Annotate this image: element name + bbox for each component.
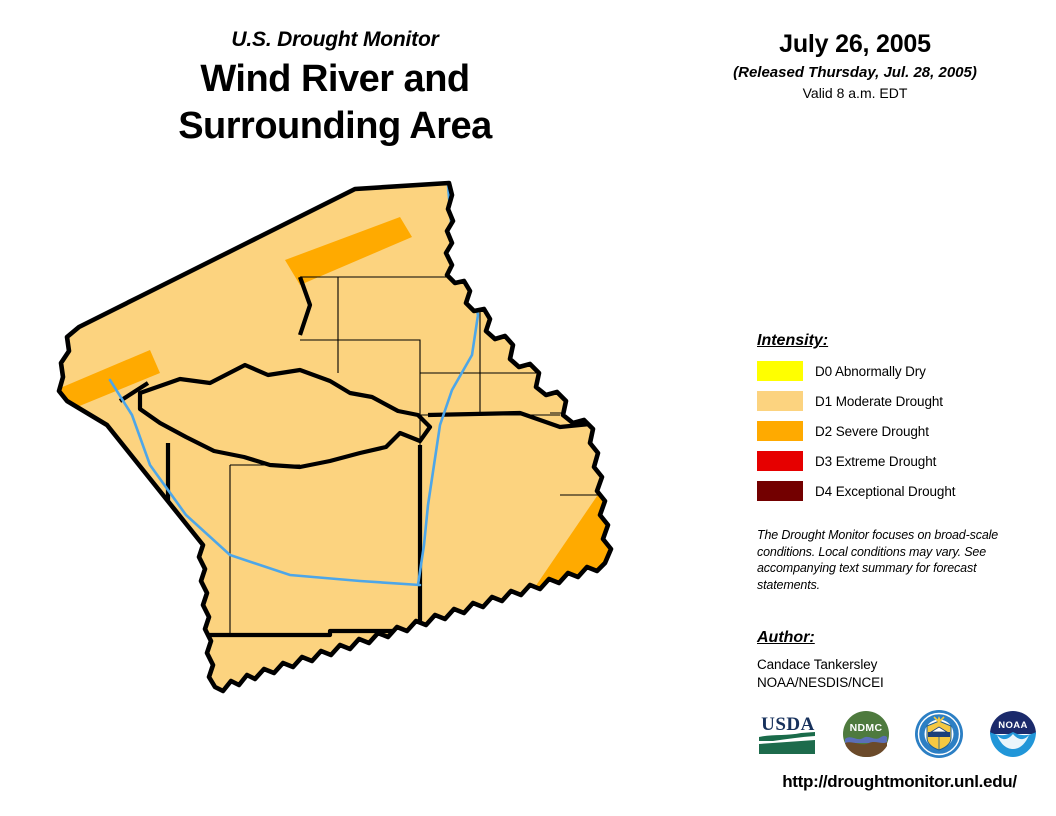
- svg-text:NOAA: NOAA: [998, 720, 1028, 731]
- usda-logo: USDA: [757, 710, 819, 758]
- legend-label-d1: D1 Moderate Drought: [815, 394, 943, 409]
- legend-item-d4: D4 Exceptional Drought: [757, 480, 1037, 502]
- ndmc-logo: NDMC: [841, 709, 891, 759]
- release-date: (Released Thursday, Jul. 28, 2005): [690, 64, 1020, 81]
- legend-swatch-d3: [757, 451, 803, 471]
- legend-label-d4: D4 Exceptional Drought: [815, 484, 955, 499]
- page-title-line2: Surrounding Area: [90, 103, 580, 150]
- valid-time: Valid 8 a.m. EDT: [690, 85, 1020, 101]
- legend-swatch-d2: [757, 421, 803, 441]
- noaa-logo: NOAA: [987, 709, 1039, 759]
- svg-text:USDA: USDA: [761, 714, 815, 735]
- legend-label-d3: D3 Extreme Drought: [815, 454, 936, 469]
- logo-row: USDA NDMC NOAA: [757, 703, 1039, 765]
- author-panel: Author: Candace Tankersley NOAA/NESDIS/N…: [757, 629, 1037, 693]
- program-subtitle: U.S. Drought Monitor: [90, 28, 580, 51]
- legend-label-d0: D0 Abnormally Dry: [815, 364, 926, 379]
- unl-seal-logo: [913, 708, 965, 760]
- header-date-block: July 26, 2005 (Released Thursday, Jul. 2…: [690, 30, 1020, 101]
- legend-swatch-d1: [757, 391, 803, 411]
- page-title: Wind River and Surrounding Area: [90, 56, 580, 150]
- disclaimer-text: The Drought Monitor focuses on broad-sca…: [757, 527, 1015, 593]
- drought-map: [0, 165, 730, 785]
- footer-url[interactable]: http://droughtmonitor.unl.edu/: [757, 772, 1042, 792]
- author-affiliation: NOAA/NESDIS/NCEI: [757, 674, 1037, 692]
- author-heading: Author:: [757, 629, 1037, 647]
- legend-panel: Intensity: D0 Abnormally Dry D1 Moderate…: [757, 332, 1037, 510]
- legend-swatch-d0: [757, 361, 803, 381]
- header-title-block: U.S. Drought Monitor Wind River and Surr…: [90, 28, 580, 150]
- author-name: Candace Tankersley: [757, 656, 1037, 674]
- legend-swatch-d4: [757, 481, 803, 501]
- legend-heading: Intensity:: [757, 332, 1037, 350]
- legend-item-d2: D2 Severe Drought: [757, 420, 1037, 442]
- drought-map-svg: [0, 165, 730, 785]
- legend-item-d0: D0 Abnormally Dry: [757, 360, 1037, 382]
- map-date: July 26, 2005: [690, 30, 1020, 59]
- legend-label-d2: D2 Severe Drought: [815, 424, 929, 439]
- page-title-line1: Wind River and: [90, 56, 580, 103]
- svg-text:NDMC: NDMC: [850, 722, 883, 734]
- legend-item-d1: D1 Moderate Drought: [757, 390, 1037, 412]
- legend-item-d3: D3 Extreme Drought: [757, 450, 1037, 472]
